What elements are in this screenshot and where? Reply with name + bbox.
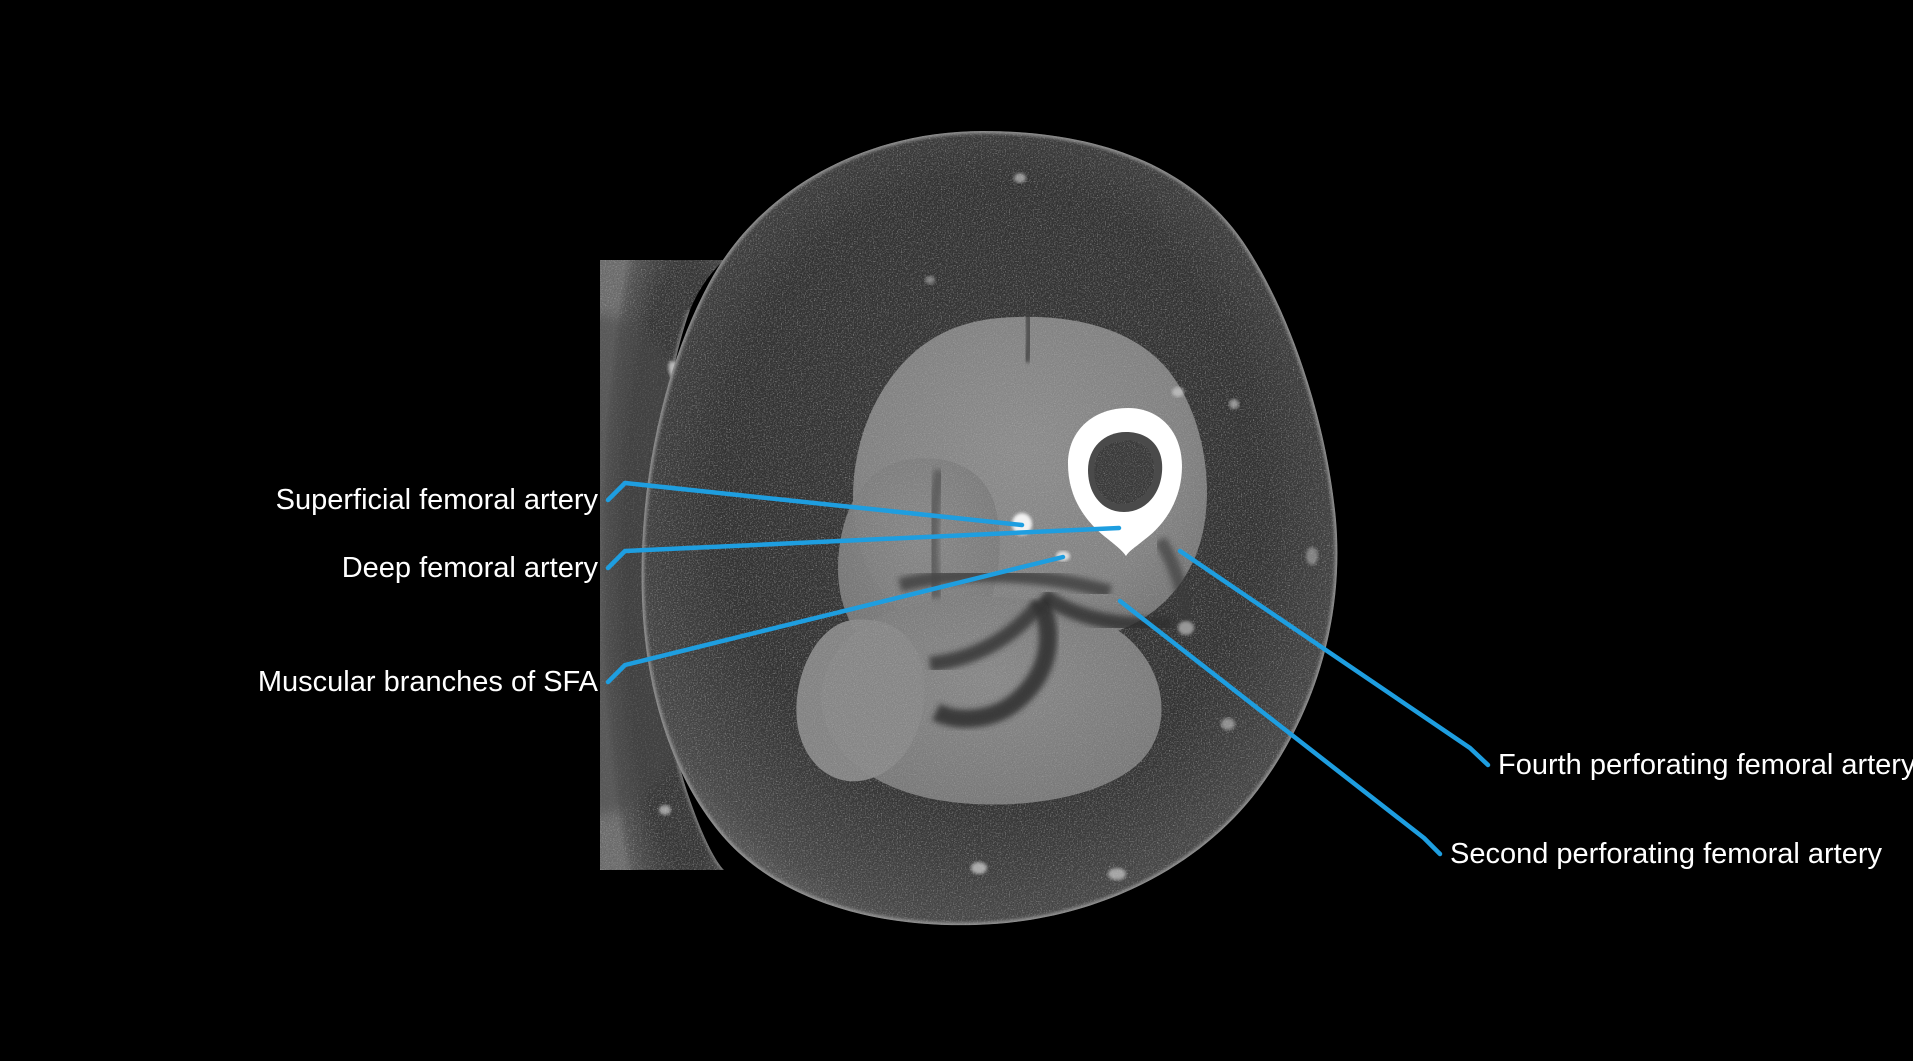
leader-line-second-perforating-femoral-artery [1120, 601, 1440, 854]
label-fourth-perforating-femoral-artery: Fourth perforating femoral artery [1498, 751, 1913, 780]
label-superficial-femoral-artery: Superficial femoral artery [276, 486, 598, 515]
label-muscular-branches-of-sfa: Muscular branches of SFA [258, 668, 598, 697]
label-second-perforating-femoral-artery: Second perforating femoral artery [1450, 840, 1882, 869]
leader-line-fourth-perforating-femoral-artery [1180, 551, 1488, 765]
label-deep-femoral-artery: Deep femoral artery [342, 554, 598, 583]
leader-line-muscular-branches-of-sfa [608, 557, 1063, 682]
annotation-leader-lines [0, 0, 1913, 1061]
ct-figure-canvas: Superficial femoral arteryDeep femoral a… [0, 0, 1913, 1061]
leader-line-superficial-femoral-artery [608, 483, 1022, 525]
